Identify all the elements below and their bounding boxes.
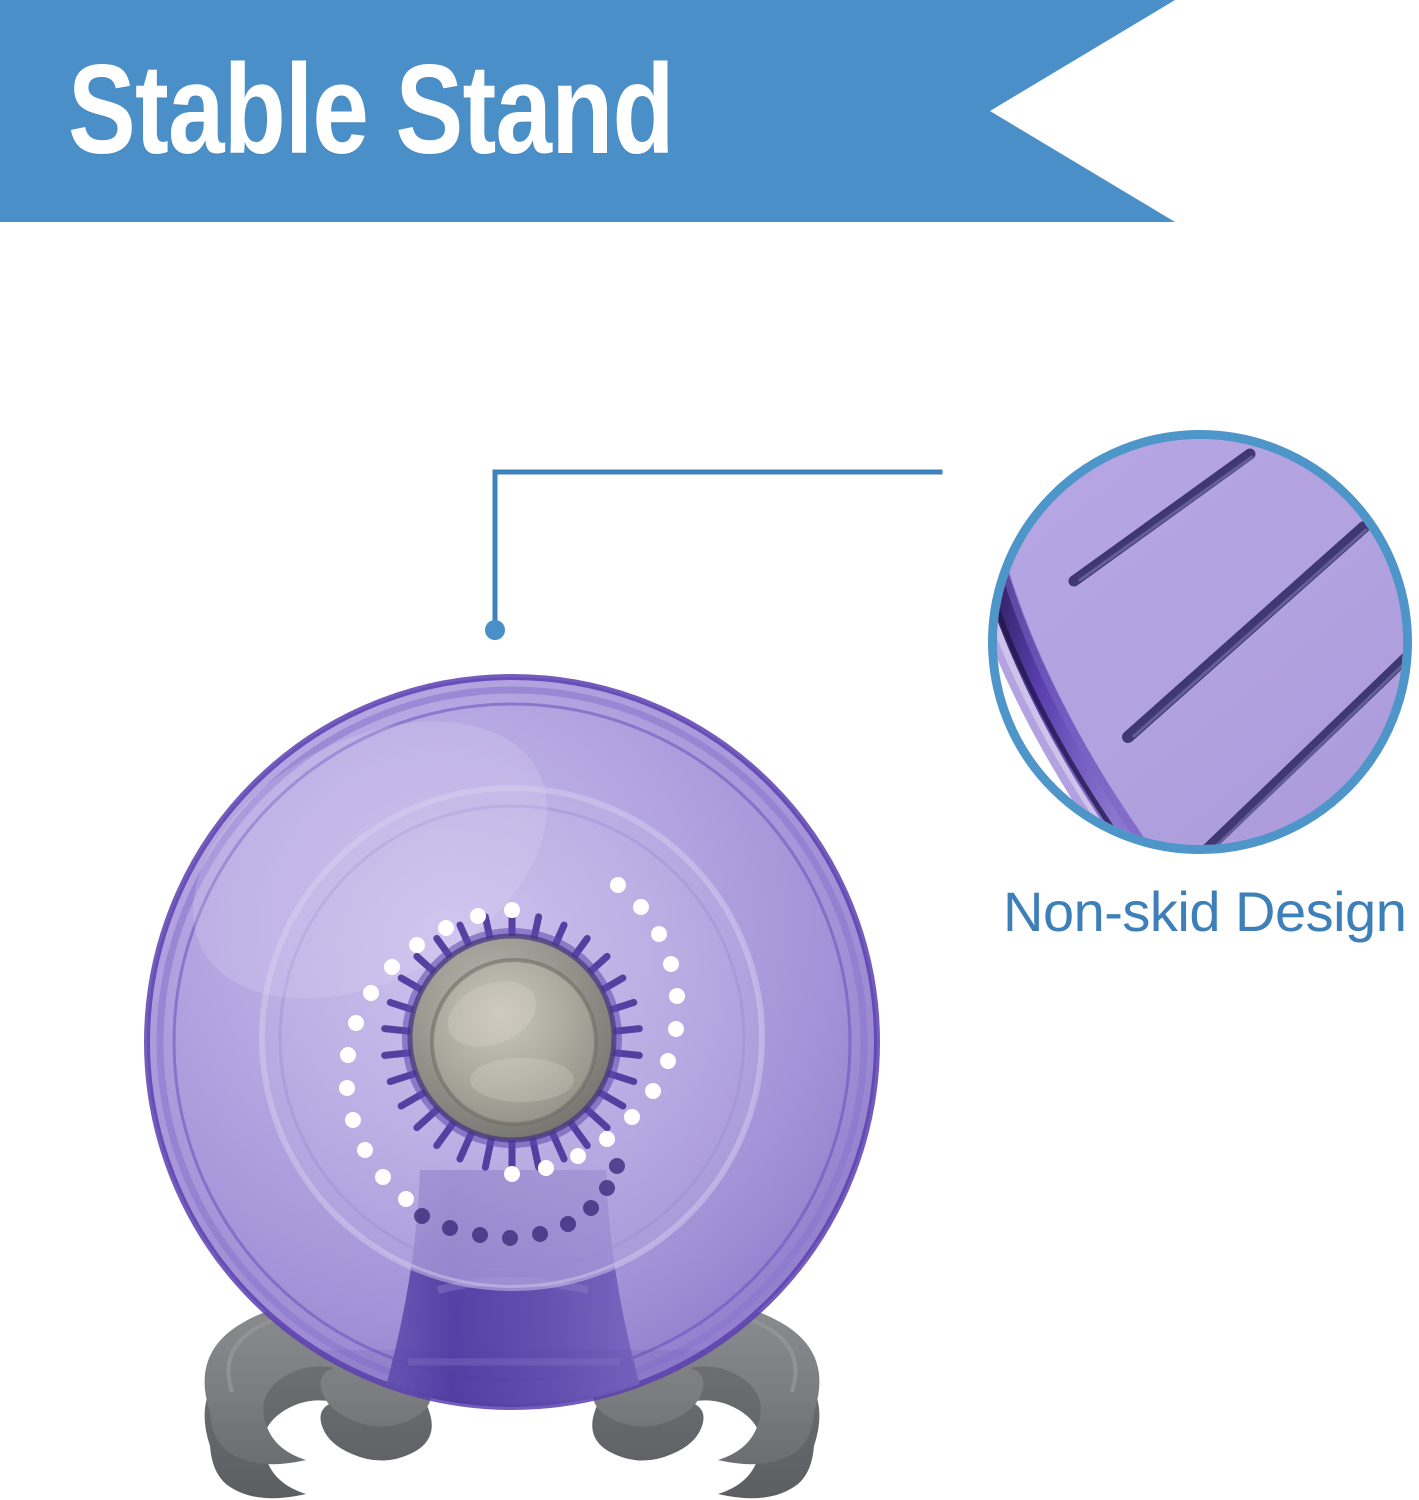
vent-hole-dark <box>442 1220 458 1236</box>
vent-hole <box>599 1131 615 1147</box>
vent-hole <box>610 877 626 893</box>
product-feature-graphic: Stable Stand <box>0 0 1419 1500</box>
vent-hole <box>409 937 425 953</box>
vent-hole <box>438 920 454 936</box>
vent-hole <box>340 1047 356 1063</box>
vent-hole-dark <box>560 1216 576 1232</box>
callout-line-path <box>495 472 940 620</box>
vent-hole <box>538 1160 554 1176</box>
vent-hole <box>398 1191 414 1207</box>
magnifier-inset <box>988 430 1412 854</box>
vent-hole <box>660 1053 676 1069</box>
vent-hole-dark <box>599 1180 615 1196</box>
callout-dot <box>485 620 505 640</box>
vent-hole <box>470 908 486 924</box>
vent-hole <box>504 1166 520 1182</box>
vent-hole <box>668 1021 684 1037</box>
vent-hole <box>645 1083 661 1099</box>
vent-hole <box>651 926 667 942</box>
vent-hole <box>357 1142 373 1158</box>
page-title: Stable Stand <box>68 34 674 184</box>
vent-hole-dark <box>414 1208 430 1224</box>
product-image <box>120 650 920 1500</box>
vent-hole <box>633 899 649 915</box>
vent-hole-dark <box>502 1230 518 1246</box>
hub <box>402 928 622 1148</box>
wheel-disc <box>120 665 904 1434</box>
vent-hole <box>384 959 400 975</box>
vent-hole <box>570 1148 586 1164</box>
hub-lower-glow <box>470 1058 574 1102</box>
vent-hole <box>504 902 520 918</box>
vent-hole <box>345 1112 361 1128</box>
vent-hole-dark <box>583 1200 599 1216</box>
banner: Stable Stand <box>0 0 1175 222</box>
vent-hole <box>669 988 685 1004</box>
vent-hole-dark <box>532 1226 548 1242</box>
vent-hole-dark <box>472 1227 488 1243</box>
vent-hole-dark <box>609 1158 625 1174</box>
vent-hole <box>363 985 379 1001</box>
vent-hole <box>348 1015 364 1031</box>
inset-content <box>988 430 1412 854</box>
inset-clip-group <box>988 430 1412 854</box>
vent-hole <box>663 956 679 972</box>
callout-leader-line <box>470 450 970 650</box>
vent-hole <box>339 1080 355 1096</box>
vent-hole <box>624 1109 640 1125</box>
inset-label: Non-skid Design <box>1003 880 1406 944</box>
vent-hole <box>375 1169 391 1185</box>
product-illustration <box>120 650 920 1500</box>
